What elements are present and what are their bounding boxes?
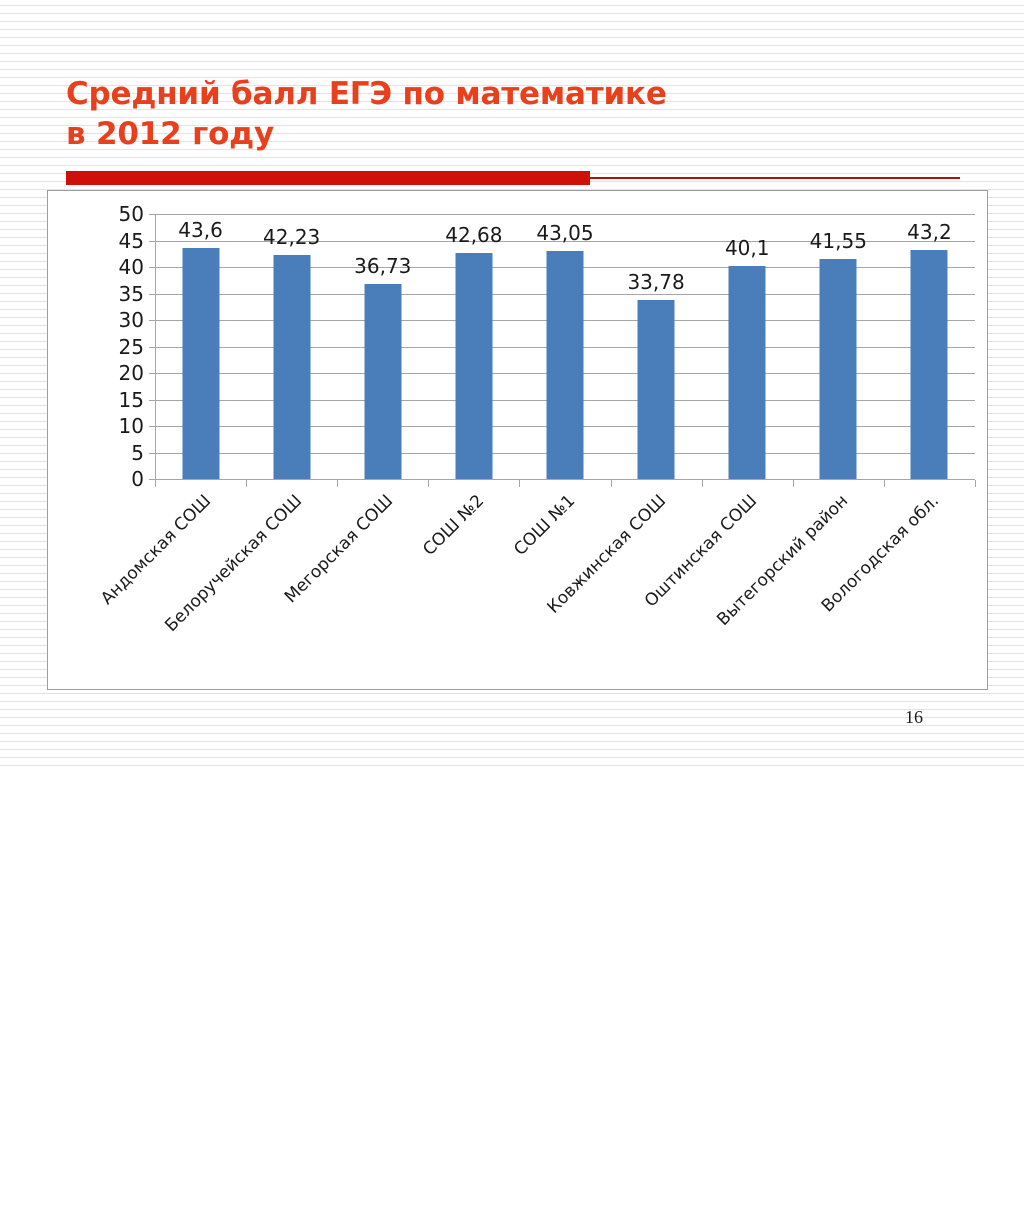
title-divider-bar xyxy=(66,171,590,185)
bar-slot: 43,6 xyxy=(155,214,246,479)
bar[interactable] xyxy=(182,248,219,479)
bar-value-label: 36,73 xyxy=(354,254,411,278)
y-axis-tick-label: 20 xyxy=(119,361,144,385)
bar[interactable] xyxy=(546,251,583,479)
y-axis-tick-label: 15 xyxy=(119,388,144,412)
y-axis-tick-label: 25 xyxy=(119,335,144,359)
x-axis-tick xyxy=(246,480,247,487)
y-axis-tick-label: 10 xyxy=(119,414,144,438)
bar[interactable] xyxy=(273,255,310,479)
y-axis-tick-label: 5 xyxy=(131,441,144,465)
bar[interactable] xyxy=(455,253,492,479)
bar[interactable] xyxy=(820,259,857,479)
x-axis-line xyxy=(155,479,975,480)
x-axis-tick xyxy=(975,480,976,487)
chart-plot-area: 05101520253035404550 43,642,2336,7342,68… xyxy=(155,214,975,479)
bar-slot: 40,1 xyxy=(702,214,793,479)
bar-value-label: 43,2 xyxy=(907,220,952,244)
bar-value-label: 42,23 xyxy=(263,225,320,249)
bar[interactable] xyxy=(364,284,401,479)
x-axis-category-label: Вытегорский район xyxy=(131,491,852,1212)
y-axis-tick-label: 40 xyxy=(119,255,144,279)
bar-slot: 42,23 xyxy=(246,214,337,479)
bar[interactable] xyxy=(729,266,766,479)
bar-value-label: 41,55 xyxy=(810,229,867,253)
x-axis-category-label: Вологодская обл. xyxy=(222,491,943,1212)
x-axis-tick xyxy=(428,480,429,487)
bar-slot: 43,05 xyxy=(519,214,610,479)
bar-value-label: 42,68 xyxy=(445,223,502,247)
bar-slot: 43,2 xyxy=(884,214,975,479)
bar-value-label: 43,05 xyxy=(536,221,593,245)
y-axis-tick-label: 35 xyxy=(119,282,144,306)
y-axis-tick-label: 0 xyxy=(131,467,144,491)
page-number: 16 xyxy=(905,707,923,728)
y-axis-tick-label: 50 xyxy=(119,202,144,226)
slide-title-line-2: в 2012 году xyxy=(66,114,946,154)
y-axis-tick-label: 30 xyxy=(119,308,144,332)
bar-value-label: 43,6 xyxy=(178,218,223,242)
slide-title: Средний балл ЕГЭ по математике в 2012 го… xyxy=(66,74,946,154)
x-axis-tick xyxy=(793,480,794,487)
bar-slot: 36,73 xyxy=(337,214,428,479)
x-axis-tick xyxy=(702,480,703,487)
x-axis-tick xyxy=(611,480,612,487)
y-axis-tick-label: 45 xyxy=(119,229,144,253)
x-axis-tick xyxy=(519,480,520,487)
x-axis-tick xyxy=(155,480,156,487)
bar-value-label: 40,1 xyxy=(725,236,770,260)
bar-slot: 41,55 xyxy=(793,214,884,479)
bar[interactable] xyxy=(911,250,948,479)
x-axis-tick xyxy=(884,480,885,487)
bar[interactable] xyxy=(638,300,675,479)
bar-value-label: 33,78 xyxy=(627,270,684,294)
bar-slot: 33,78 xyxy=(611,214,702,479)
slide-title-line-1: Средний балл ЕГЭ по математике xyxy=(66,74,946,114)
x-axis-tick xyxy=(337,480,338,487)
chart-container: 05101520253035404550 43,642,2336,7342,68… xyxy=(47,190,988,690)
bar-slot: 42,68 xyxy=(428,214,519,479)
x-axis-category-label: Оштинская СОШ xyxy=(40,491,761,1212)
